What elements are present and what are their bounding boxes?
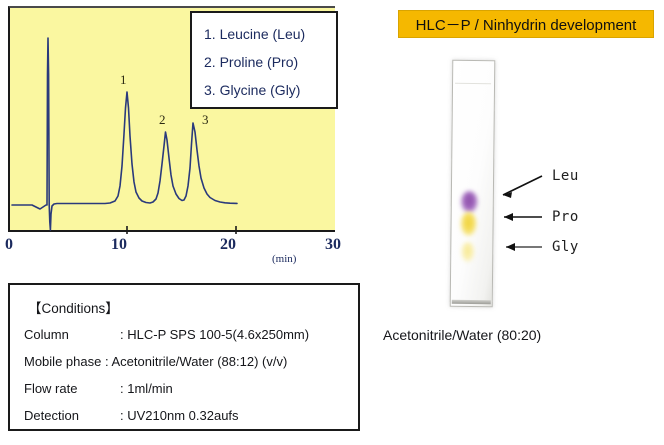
peak-label-2: 2 — [159, 112, 166, 128]
x-tick-10: 10 — [111, 236, 127, 254]
condition-row-detection: Detection: UV210nm 0.32aufs — [24, 402, 358, 429]
x-tick-30: 30 — [325, 236, 341, 254]
condition-sep-column: : — [120, 327, 124, 342]
legend-item-glycine: 3. Glycine (Gly) — [204, 76, 336, 104]
condition-row-flow-rate: Flow rate: 1ml/min — [24, 375, 358, 402]
tlc-label-leu: Leu — [552, 168, 579, 184]
tlc-annotations: Leu Pro Gly — [490, 165, 610, 265]
peak-label-1: 1 — [120, 72, 127, 88]
tlc-spot-gly — [461, 242, 474, 262]
chromatogram-legend: 1. Leucine (Leu) 2. Proline (Pro) 3. Gly… — [190, 11, 338, 109]
legend-item-proline: 2. Proline (Pro) — [204, 48, 336, 76]
x-tick-0: 0 — [5, 236, 13, 254]
condition-sep-flow-rate: : — [120, 381, 124, 396]
condition-key-column: Column — [24, 321, 120, 348]
condition-key-flow-rate: Flow rate — [24, 375, 120, 402]
legend-item-leucine: 1. Leucine (Leu) — [204, 20, 336, 48]
condition-sep-detection: : — [120, 408, 124, 423]
tlc-label-gly: Gly — [552, 239, 579, 255]
tlc-plate-base-edge — [452, 300, 491, 304]
chromatogram-panel: 1 2 3 1. Leucine (Leu) 2. Proline (Pro) … — [8, 6, 335, 232]
condition-value-mobile-phase: Acetonitrile/Water (88:12) (v/v) — [111, 354, 287, 369]
condition-row-mobile-phase: Mobile phase : Acetonitrile/Water (88:12… — [24, 348, 358, 375]
chromatogram-plot-area: 1 2 3 1. Leucine (Leu) 2. Proline (Pro) … — [8, 6, 335, 232]
tlc-solvent-front-line — [455, 83, 491, 84]
condition-row-column: Column: HLC-P SPS 100-5(4.6x250mm) — [24, 321, 358, 348]
tlc-header-banner: HLC－P / Ninhydrin development — [398, 10, 654, 38]
tlc-spot-pro — [460, 212, 476, 236]
condition-value-flow-rate: 1ml/min — [127, 381, 173, 396]
conditions-title: 【Conditions】 — [24, 297, 358, 321]
condition-key-mobile-phase: Mobile phase — [24, 348, 101, 375]
tlc-header-text: HLC－P / Ninhydrin development — [416, 14, 637, 35]
condition-value-column: HLC-P SPS 100-5(4.6x250mm) — [127, 327, 309, 342]
condition-key-detection: Detection — [24, 402, 120, 429]
tlc-spot-leu — [461, 191, 478, 213]
tlc-arrow-icons — [490, 165, 610, 265]
tlc-caption: Acetonitrile/Water (80:20) — [383, 327, 541, 343]
tlc-label-pro: Pro — [552, 209, 579, 225]
condition-value-detection: UV210nm 0.32aufs — [127, 408, 238, 423]
tlc-plate — [450, 60, 496, 307]
condition-sep-mobile-phase: : — [105, 354, 109, 369]
x-axis-labels: 0 10 20 30 (min) — [0, 236, 345, 270]
x-tick-20: 20 — [220, 236, 236, 254]
conditions-box: 【Conditions】 Column: HLC-P SPS 100-5(4.6… — [8, 283, 360, 431]
peak-label-3: 3 — [202, 112, 209, 128]
x-axis-unit-label: (min) — [272, 253, 296, 265]
